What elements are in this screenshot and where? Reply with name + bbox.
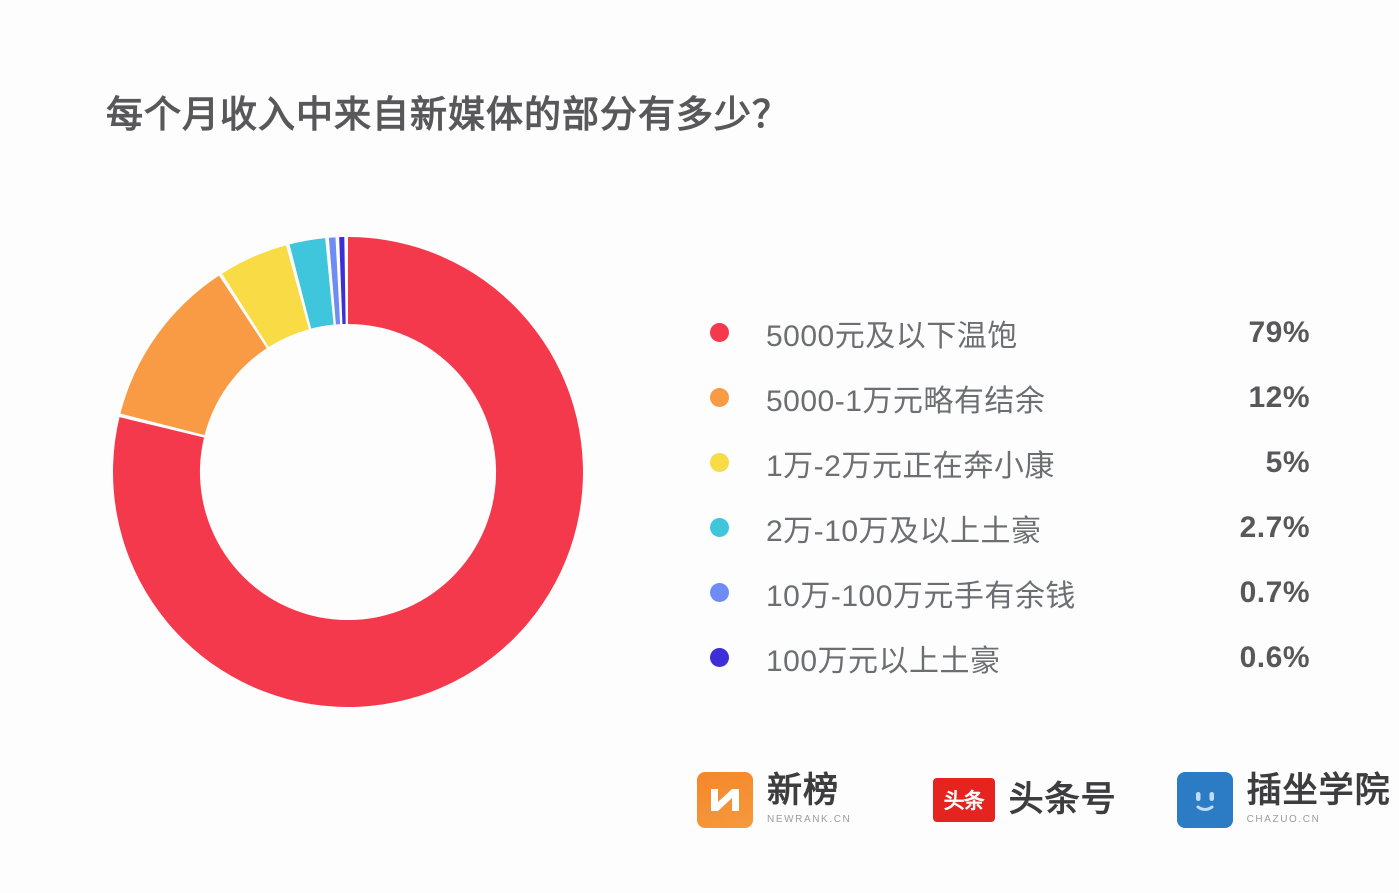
logo-text-newrank: 新榜 NEWRANK.CN <box>767 773 873 828</box>
legend-item-label: 2万-10万及以上土豪 <box>766 506 1180 550</box>
logo-name: 新榜 <box>767 771 839 810</box>
newrank-logo-icon <box>697 772 753 828</box>
legend-item-value: 12% <box>1180 381 1310 415</box>
chazuo-logo-icon <box>1177 772 1233 828</box>
legend-item-value: 0.7% <box>1180 576 1310 610</box>
logo-newrank: 新榜 NEWRANK.CN <box>697 772 873 828</box>
footer-logo-bar: 新榜 NEWRANK.CN 头条 头条号 插坐学院 CHAZUO.CN <box>697 772 1399 828</box>
legend-item-label: 5000-1万元略有结余 <box>766 376 1180 420</box>
logo-text-toutiao: 头条号 <box>1009 782 1117 819</box>
logo-subtitle: CHAZUO.CN <box>1247 814 1321 825</box>
legend-dot-icon <box>710 453 729 472</box>
donut-slice-group <box>113 237 583 707</box>
legend-item-label: 100万元以上土豪 <box>766 636 1180 680</box>
legend-dot-icon <box>710 518 729 537</box>
logo-text-chazuo: 插坐学院 CHAZUO.CN <box>1247 773 1399 828</box>
chart-legend: 5000元及以下温饱 79% 5000-1万元略有结余 12% 1万-2万元正在… <box>710 300 1310 690</box>
chart-page: 每个月收入中来自新媒体的部分有多少？ 5000元及以下温饱 79% 5000-1… <box>0 0 1399 893</box>
legend-item-value: 79% <box>1180 316 1310 350</box>
logo-name: 头条号 <box>1009 780 1117 819</box>
legend-item[interactable]: 2万-10万及以上土豪 2.7% <box>710 495 1310 560</box>
donut-chart-svg <box>113 237 583 707</box>
legend-item[interactable]: 10万-100万元手有余钱 0.7% <box>710 560 1310 625</box>
legend-item[interactable]: 1万-2万元正在奔小康 5% <box>710 430 1310 495</box>
legend-item-label: 5000元及以下温饱 <box>766 311 1180 355</box>
legend-dot-icon <box>710 323 729 342</box>
toutiao-logo-icon: 头条 <box>933 778 995 822</box>
legend-item-value: 0.6% <box>1180 641 1310 675</box>
newrank-n-glyph <box>705 780 745 820</box>
chazuo-face-glyph <box>1185 780 1225 820</box>
donut-chart <box>113 237 583 707</box>
legend-item[interactable]: 5000-1万元略有结余 12% <box>710 365 1310 430</box>
legend-dot-icon <box>710 648 729 667</box>
legend-item-value: 2.7% <box>1180 511 1310 545</box>
legend-item-label: 10万-100万元手有余钱 <box>766 571 1180 615</box>
logo-name: 插坐学院 <box>1247 771 1391 810</box>
legend-item[interactable]: 100万元以上土豪 0.6% <box>710 625 1310 690</box>
page-title: 每个月收入中来自新媒体的部分有多少？ <box>106 84 790 138</box>
legend-item-value: 5% <box>1180 446 1310 480</box>
legend-item[interactable]: 5000元及以下温饱 79% <box>710 300 1310 365</box>
legend-dot-icon <box>710 583 729 602</box>
legend-dot-icon <box>710 388 729 407</box>
logo-subtitle: NEWRANK.CN <box>767 814 851 825</box>
legend-item-label: 1万-2万元正在奔小康 <box>766 441 1180 485</box>
donut-slice[interactable] <box>339 237 346 324</box>
logo-chazuo: 插坐学院 CHAZUO.CN <box>1177 772 1399 828</box>
logo-toutiao: 头条 头条号 <box>933 778 1117 822</box>
